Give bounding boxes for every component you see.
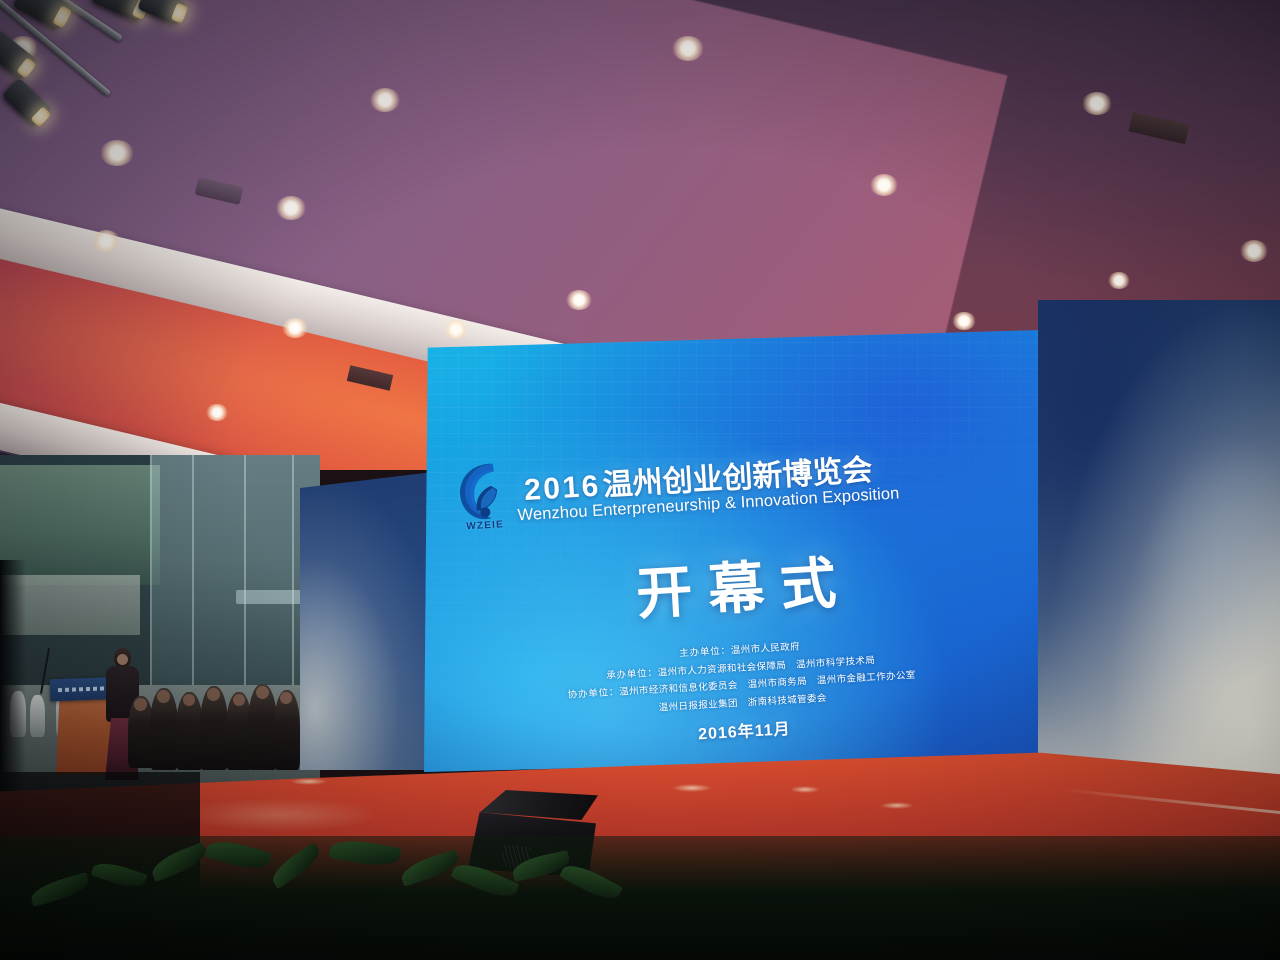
par-can-light (0, 30, 37, 80)
event-photo-scene: WZEIE 2016温州创业创新博览会 Wenzhou Enterpreneur… (0, 0, 1280, 960)
organizer-label: 协办单位： (567, 687, 619, 701)
organizer-label: 主办单位： (679, 645, 731, 659)
wzeie-leaf-logo-icon: WZEIE (448, 454, 518, 532)
floor-highlight (790, 786, 820, 793)
hall-glass-wall (150, 455, 320, 685)
screen-headline: 开幕式 (424, 526, 1044, 643)
recessed-downlight (1082, 92, 1112, 115)
floor-highlight (880, 802, 914, 809)
hall-signage (236, 590, 310, 604)
audience-face (233, 694, 245, 706)
audience-face (280, 692, 292, 704)
par-can-light (2, 78, 52, 128)
ceiling-vent (1128, 112, 1189, 145)
recessed-downlight (952, 312, 976, 330)
recessed-downlight (1108, 272, 1130, 289)
foreground-decorative-plants (0, 836, 1280, 960)
right-side-wall-curtain (1038, 300, 1280, 780)
floor-highlight (180, 798, 380, 832)
curtain-highlight (1044, 340, 1280, 760)
audience-face (183, 694, 195, 706)
par-can-light (12, 0, 71, 31)
wzeie-acronym: WZEIE (452, 518, 519, 533)
floor-highlight (672, 784, 712, 792)
stage-lighting-truss (0, 0, 220, 166)
organizer-names: 温州市人民政府 (731, 641, 801, 656)
audience-face (207, 688, 220, 701)
audience-face (134, 698, 147, 711)
screen-content: WZEIE 2016温州创业创新博览会 Wenzhou Enterpreneur… (424, 330, 1044, 772)
distant-visitor (30, 695, 45, 737)
audience-face (256, 686, 269, 699)
organizer-label: 承办单位： (606, 667, 658, 681)
led-stage-screen: WZEIE 2016温州创业创新博览会 Wenzhou Enterpreneur… (424, 330, 1044, 772)
recessed-downlight (1240, 240, 1268, 262)
audience-face (157, 690, 170, 703)
floor-highlight (290, 778, 328, 785)
seated-audience (128, 662, 308, 774)
presenter-face (117, 654, 128, 665)
